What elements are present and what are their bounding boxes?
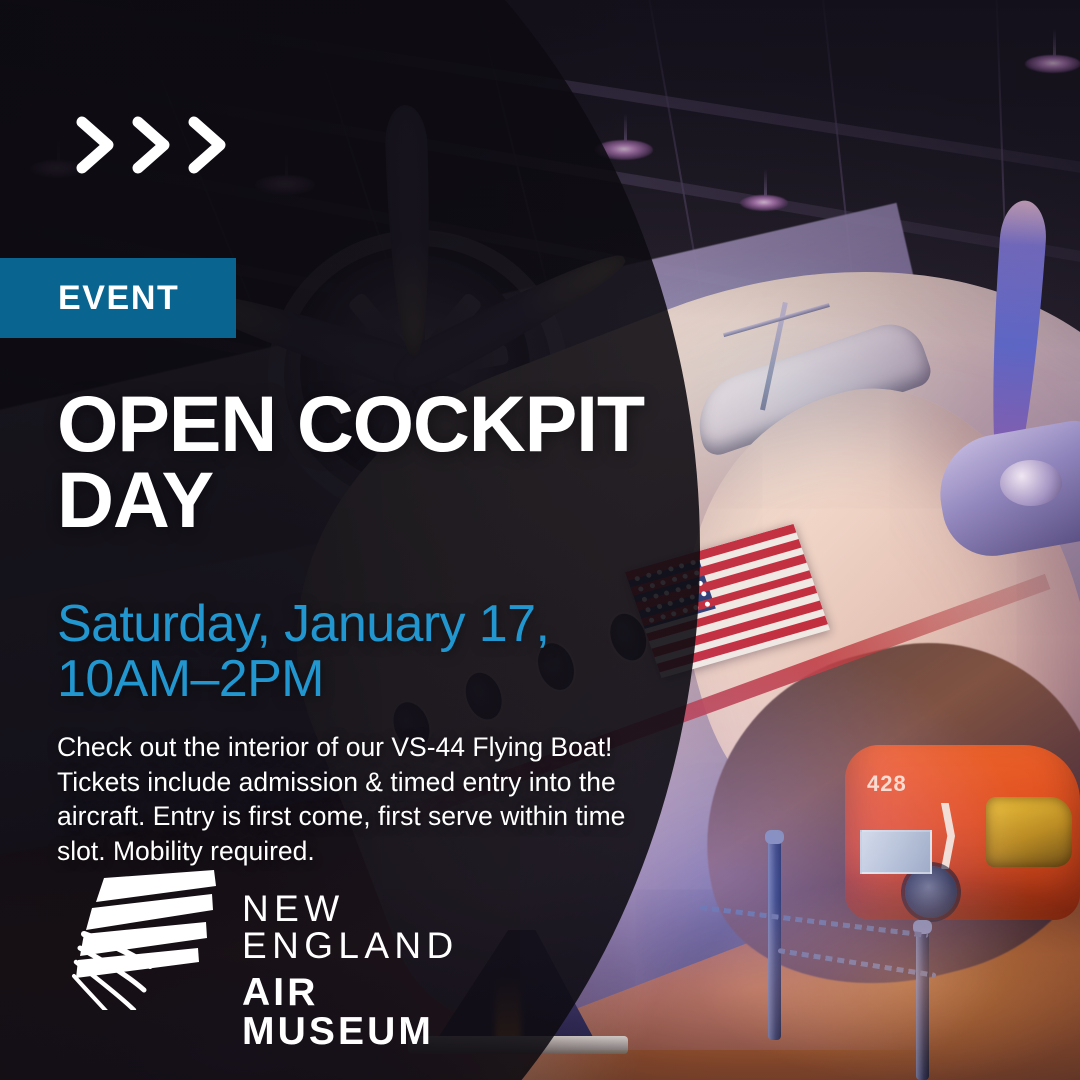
date-line-1: Saturday, January 17, <box>57 597 657 652</box>
page-title: OPEN COCKPIT DAY <box>57 386 697 538</box>
event-date-time: Saturday, January 17, 10AM–2PM <box>57 597 657 707</box>
date-line-2: 10AM–2PM <box>57 652 657 707</box>
chevron-right-icon <box>130 114 176 176</box>
logo-wordmark: NEW ENGLAND AIR MUSEUM <box>242 890 496 1051</box>
chevron-decoration <box>74 114 232 176</box>
badge-label: EVENT <box>58 281 179 315</box>
status-badge: EVENT <box>0 258 236 338</box>
wing-feather-logo-icon <box>66 868 226 1010</box>
event-poster: 428 EVENT OPEN <box>0 0 1080 1080</box>
chevron-right-icon <box>74 114 120 176</box>
chevron-right-icon <box>186 114 232 176</box>
logo-line-1: NEW ENGLAND <box>242 890 496 964</box>
museum-logo: NEW ENGLAND AIR MUSEUM <box>66 868 496 1010</box>
event-description: Check out the interior of our VS-44 Flyi… <box>57 730 657 869</box>
logo-line-2: AIR MUSEUM <box>242 973 496 1051</box>
poster-content: EVENT OPEN COCKPIT DAY Saturday, January… <box>0 0 1080 1080</box>
headline-line-1: OPEN COCKPIT <box>57 386 697 462</box>
headline-line-2: DAY <box>57 462 697 538</box>
